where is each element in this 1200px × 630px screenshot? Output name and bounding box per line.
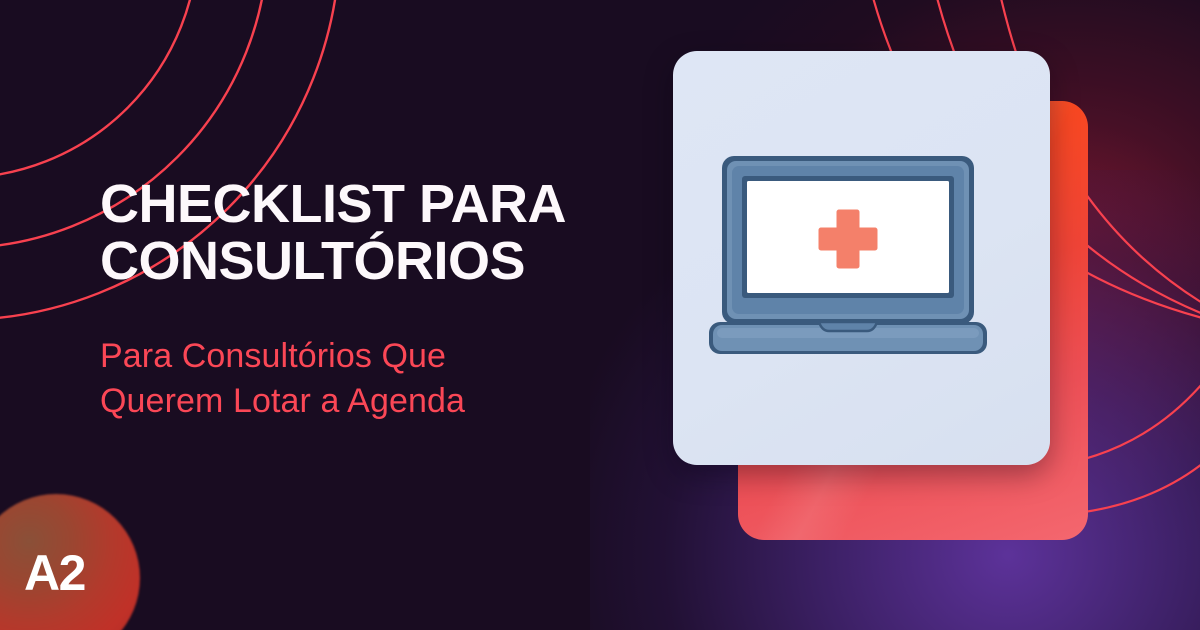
hero-text-block: CHECKLIST PARA CONSULTÓRIOS Para Consult… bbox=[100, 176, 620, 423]
page-title: CHECKLIST PARA CONSULTÓRIOS bbox=[100, 176, 620, 290]
laptop-with-medical-cross-icon bbox=[707, 152, 1017, 364]
poster-canvas: CHECKLIST PARA CONSULTÓRIOS Para Consult… bbox=[0, 0, 1200, 630]
brand-logo-text: A2 bbox=[24, 548, 85, 598]
page-subtitle: Para Consultórios Que Querem Lotar a Age… bbox=[100, 290, 620, 422]
laptop-illustration-card bbox=[673, 51, 1050, 465]
